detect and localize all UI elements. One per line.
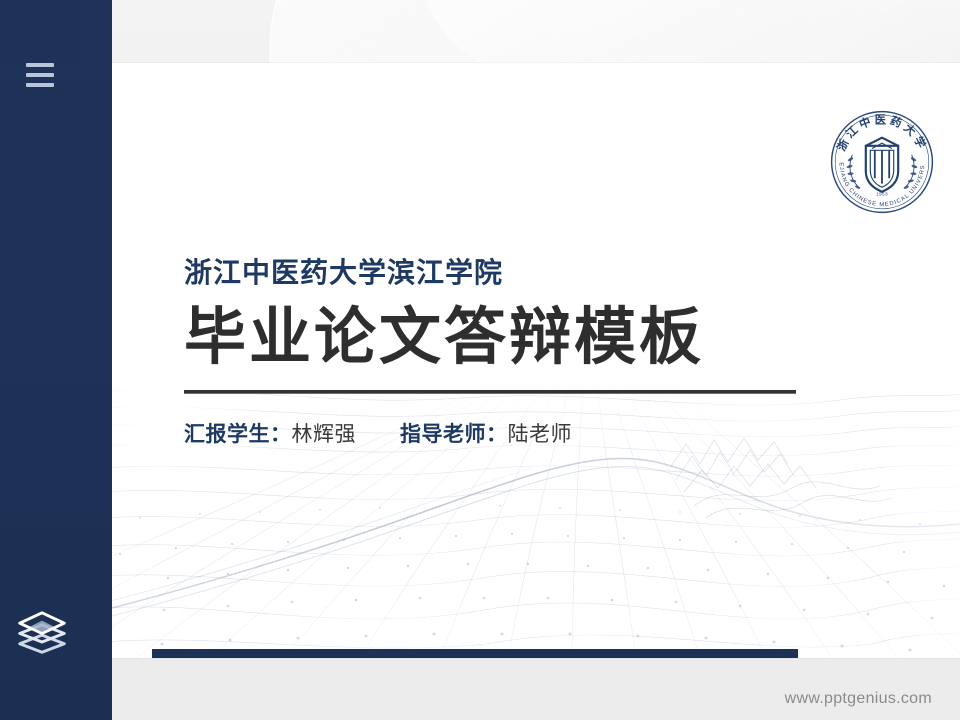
title-block: 浙江中医药大学滨江学院 毕业论文答辩模板 汇报学生：林辉强指导老师：陆老师 [184,258,884,447]
university-seal-icon: 浙江中医药大学 ZHEJIANG CHINESE MEDICAL UNIVERS… [828,108,936,216]
student-label: 汇报学生： [184,423,292,446]
student-name: 林辉强 [292,423,357,446]
page-background: 浙江中医药大学 ZHEJIANG CHINESE MEDICAL UNIVERS… [0,0,960,720]
stacked-layers-icon[interactable] [16,606,68,654]
footer-url[interactable]: www.pptgenius.com [785,690,932,708]
hamburger-menu-icon[interactable] [26,63,54,87]
slide-accent-bar [152,649,798,658]
title-divider [184,390,796,394]
byline: 汇报学生：林辉强指导老师：陆老师 [184,422,884,447]
institution-subtitle: 浙江中医药大学滨江学院 [184,258,884,289]
sidebar-top-stub [0,0,80,63]
page-title: 毕业论文答辩模板 [184,303,884,372]
svg-text:浙江中医药大学: 浙江中医药大学 [834,113,930,153]
slide-canvas: 浙江中医药大学 ZHEJIANG CHINESE MEDICAL UNIVERS… [80,63,960,658]
advisor-label: 指导老师： [400,423,508,446]
hamburger-bar-middle [26,73,54,77]
advisor-name: 陆老师 [508,423,573,446]
hamburger-bar-top [26,63,54,67]
hamburger-bar-bottom [26,83,54,87]
